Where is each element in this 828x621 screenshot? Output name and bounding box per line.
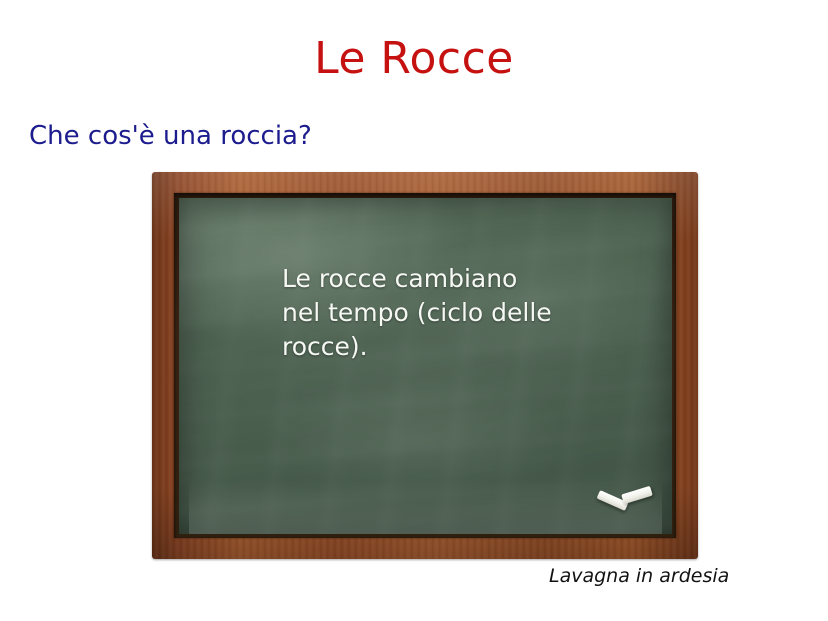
slide-canvas: Le Rocce Che cos'è una roccia? Le rocce … [0, 0, 828, 621]
page-title: Le Rocce [0, 33, 828, 85]
figure-caption: Lavagna in ardesia [549, 564, 729, 588]
blackboard-chalk-text: Le rocce cambiano nel tempo (ciclo delle… [282, 262, 612, 364]
blackboard-inner-bevel: Le rocce cambiano nel tempo (ciclo delle… [174, 193, 676, 538]
chalk-smudge-texture [179, 198, 672, 534]
chalk-stick-icon [621, 486, 653, 504]
blackboard-slate-surface: Le rocce cambiano nel tempo (ciclo delle… [179, 198, 672, 534]
chalk-dust-band [189, 480, 662, 534]
chalk-sticks-group [597, 486, 657, 526]
blackboard-figure: Le rocce cambiano nel tempo (ciclo delle… [152, 172, 698, 559]
slide-subtitle-question: Che cos'è una roccia? [29, 120, 312, 152]
blackboard-wooden-frame: Le rocce cambiano nel tempo (ciclo delle… [152, 172, 698, 559]
